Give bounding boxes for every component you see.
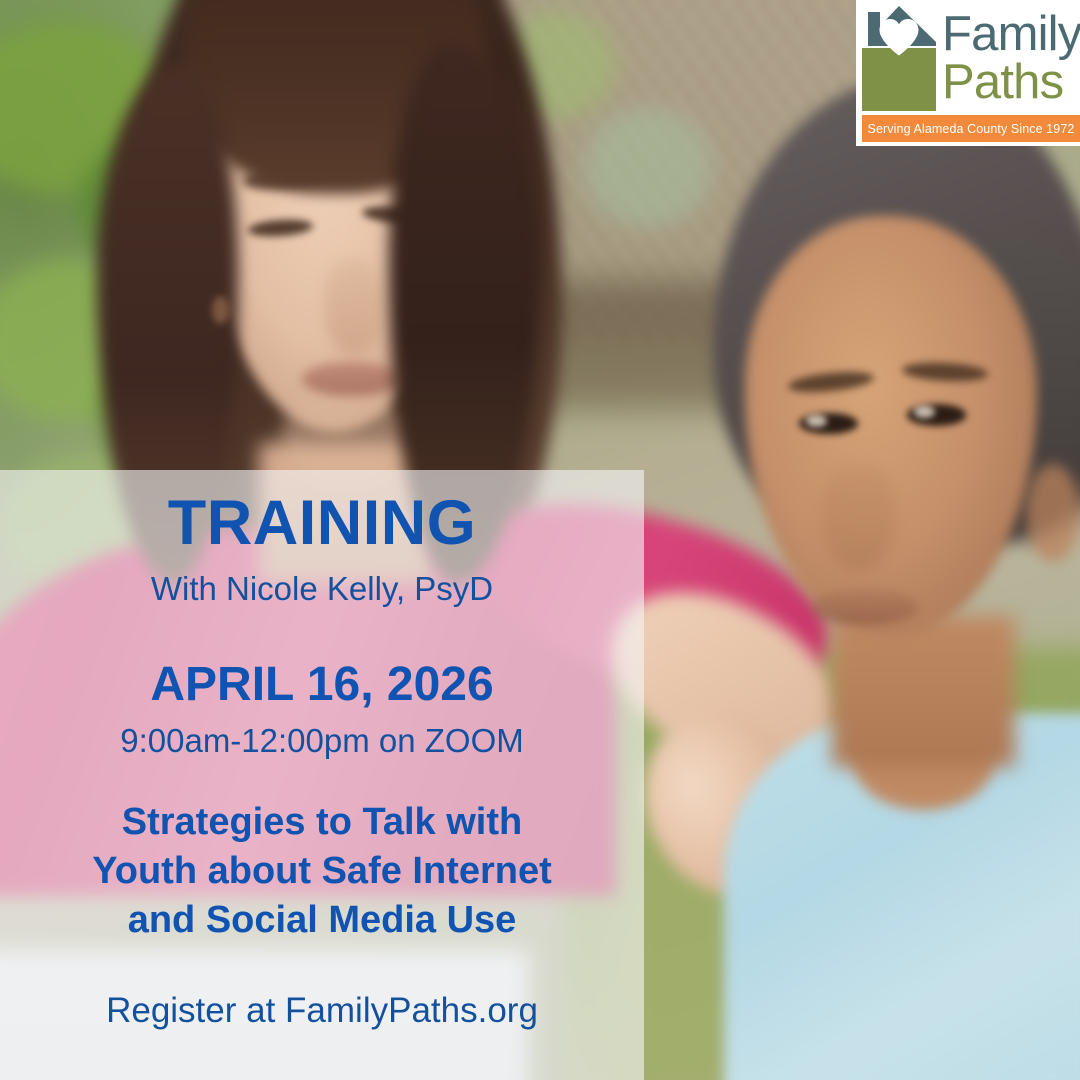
presenter-name: With Nicole Kelly, PsyD [0, 571, 644, 607]
topic-line-1: Strategies to Talk with [24, 798, 620, 847]
registration-call-to-action[interactable]: Register at FamilyPaths.org [0, 992, 644, 1031]
training-flyer: TRAINING With Nicole Kelly, PsyD APRIL 1… [0, 0, 1080, 1080]
headline-training: TRAINING [0, 492, 644, 555]
event-date: APRIL 16, 2026 [0, 661, 644, 709]
topic-line-2: Youth about Safe Internet [24, 847, 620, 896]
logo-tagline-text: Serving Alameda County Since 1972 [868, 122, 1075, 136]
girl-ear [1026, 464, 1080, 561]
wordmark-paths: Paths [942, 55, 1063, 108]
family-paths-wordmark: Family Paths [942, 2, 1080, 108]
wordmark-family: Family [942, 7, 1080, 61]
girl-mouth [810, 589, 918, 626]
event-time-and-platform: 9:00am-12:00pm on ZOOM [0, 723, 644, 759]
house-icon [862, 4, 936, 111]
logo-tagline-banner: Serving Alameda County Since 1972 [862, 115, 1080, 142]
girl-nose [821, 464, 897, 572]
training-topic: Strategies to Talk with Youth about Safe… [0, 798, 644, 946]
family-paths-logo[interactable]: Family Paths Serving Alameda County Sinc… [856, 0, 1080, 146]
text-overlay-panel: TRAINING With Nicole Kelly, PsyD APRIL 1… [0, 470, 644, 1080]
heart-icon [878, 18, 920, 56]
girl-eye-highlight [914, 406, 936, 418]
girl-neck [832, 616, 1016, 767]
foliage-blob [583, 108, 713, 227]
topic-line-3: and Social Media Use [24, 896, 620, 945]
girl-eye-highlight [806, 415, 828, 427]
house-body-icon [862, 48, 936, 111]
woman-mouth [302, 362, 399, 397]
woman-earring [212, 296, 229, 324]
